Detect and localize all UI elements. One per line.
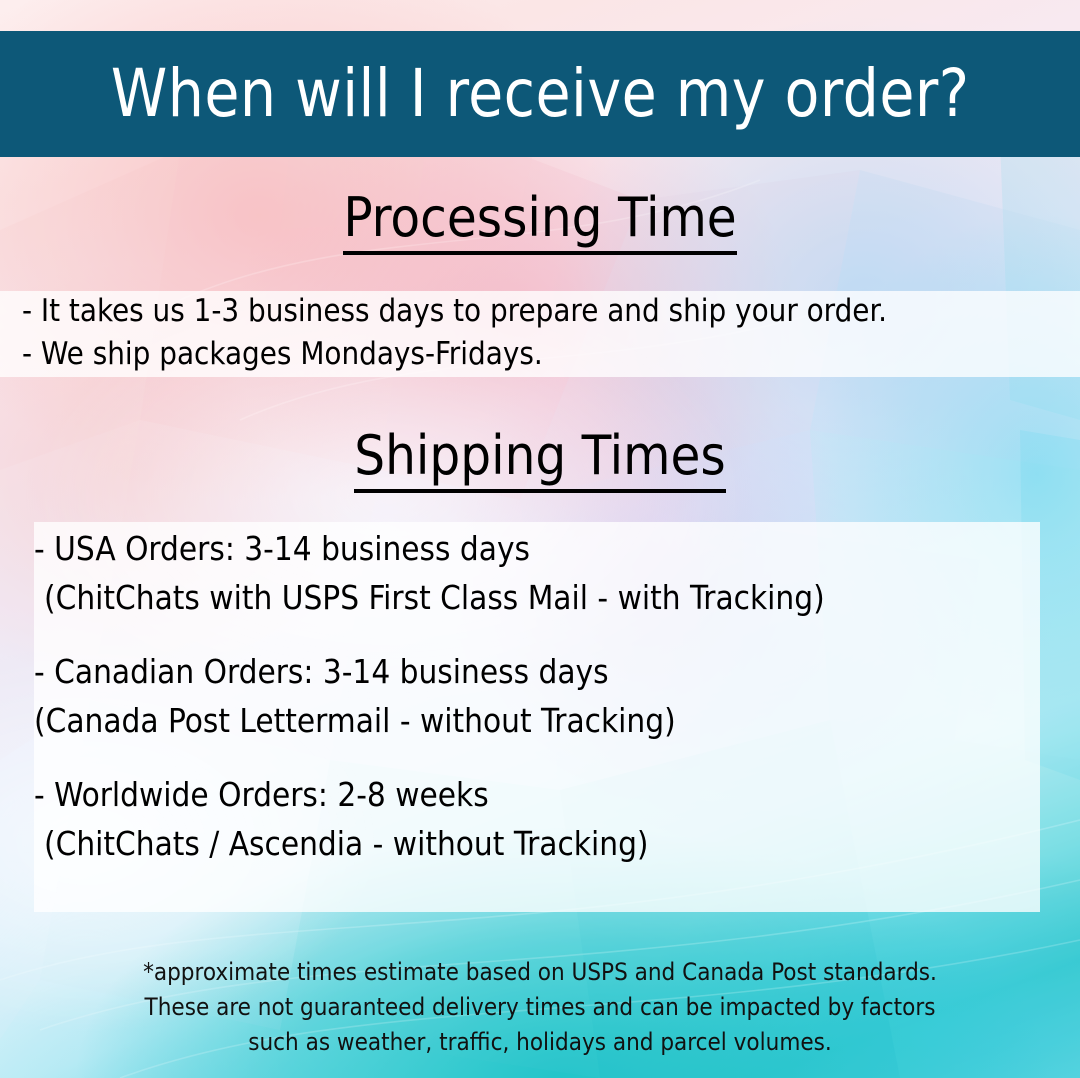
footnote-line: such as weather, traffic, holidays and p… bbox=[0, 1025, 1080, 1060]
shipping-times-list: - USA Orders: 3-14 business days (ChitCh… bbox=[34, 524, 1044, 868]
list-item: - It takes us 1-3 business days to prepa… bbox=[22, 290, 1062, 333]
section-heading-shipping-label: Shipping Times bbox=[354, 429, 725, 493]
section-heading-processing: Processing Time bbox=[0, 191, 1080, 255]
shipping-worldwide-carrier: (ChitChats / Ascendia - without Tracking… bbox=[34, 819, 1044, 868]
shipping-worldwide-duration: - Worldwide Orders: 2-8 weeks bbox=[34, 770, 1044, 819]
footnote-line: These are not guaranteed delivery times … bbox=[0, 990, 1080, 1025]
section-heading-processing-label: Processing Time bbox=[343, 191, 736, 255]
list-item: - Canadian Orders: 3-14 business days (C… bbox=[34, 647, 1044, 745]
processing-time-list: - It takes us 1-3 business days to prepa… bbox=[22, 290, 1062, 376]
shipping-info-graphic: When will I receive my order? Processing… bbox=[0, 0, 1080, 1078]
list-item: - We ship packages Mondays-Fridays. bbox=[22, 333, 1062, 376]
footnote-line: *approximate times estimate based on USP… bbox=[0, 955, 1080, 990]
shipping-canada-duration: - Canadian Orders: 3-14 business days bbox=[34, 647, 1044, 696]
list-item: - USA Orders: 3-14 business days (ChitCh… bbox=[34, 524, 1044, 622]
content-area: Processing Time - It takes us 1-3 busine… bbox=[0, 0, 1080, 1078]
list-item: - Worldwide Orders: 2-8 weeks (ChitChats… bbox=[34, 770, 1044, 868]
disclaimer-footnote: *approximate times estimate based on USP… bbox=[0, 955, 1080, 1060]
shipping-usa-duration: - USA Orders: 3-14 business days bbox=[34, 524, 1044, 573]
page-title: When will I receive my order? bbox=[111, 61, 970, 127]
shipping-usa-carrier: (ChitChats with USPS First Class Mail - … bbox=[34, 573, 1044, 622]
shipping-canada-carrier: (Canada Post Lettermail - without Tracki… bbox=[34, 696, 1044, 745]
header-banner: When will I receive my order? bbox=[0, 31, 1080, 157]
section-heading-shipping: Shipping Times bbox=[0, 429, 1080, 493]
